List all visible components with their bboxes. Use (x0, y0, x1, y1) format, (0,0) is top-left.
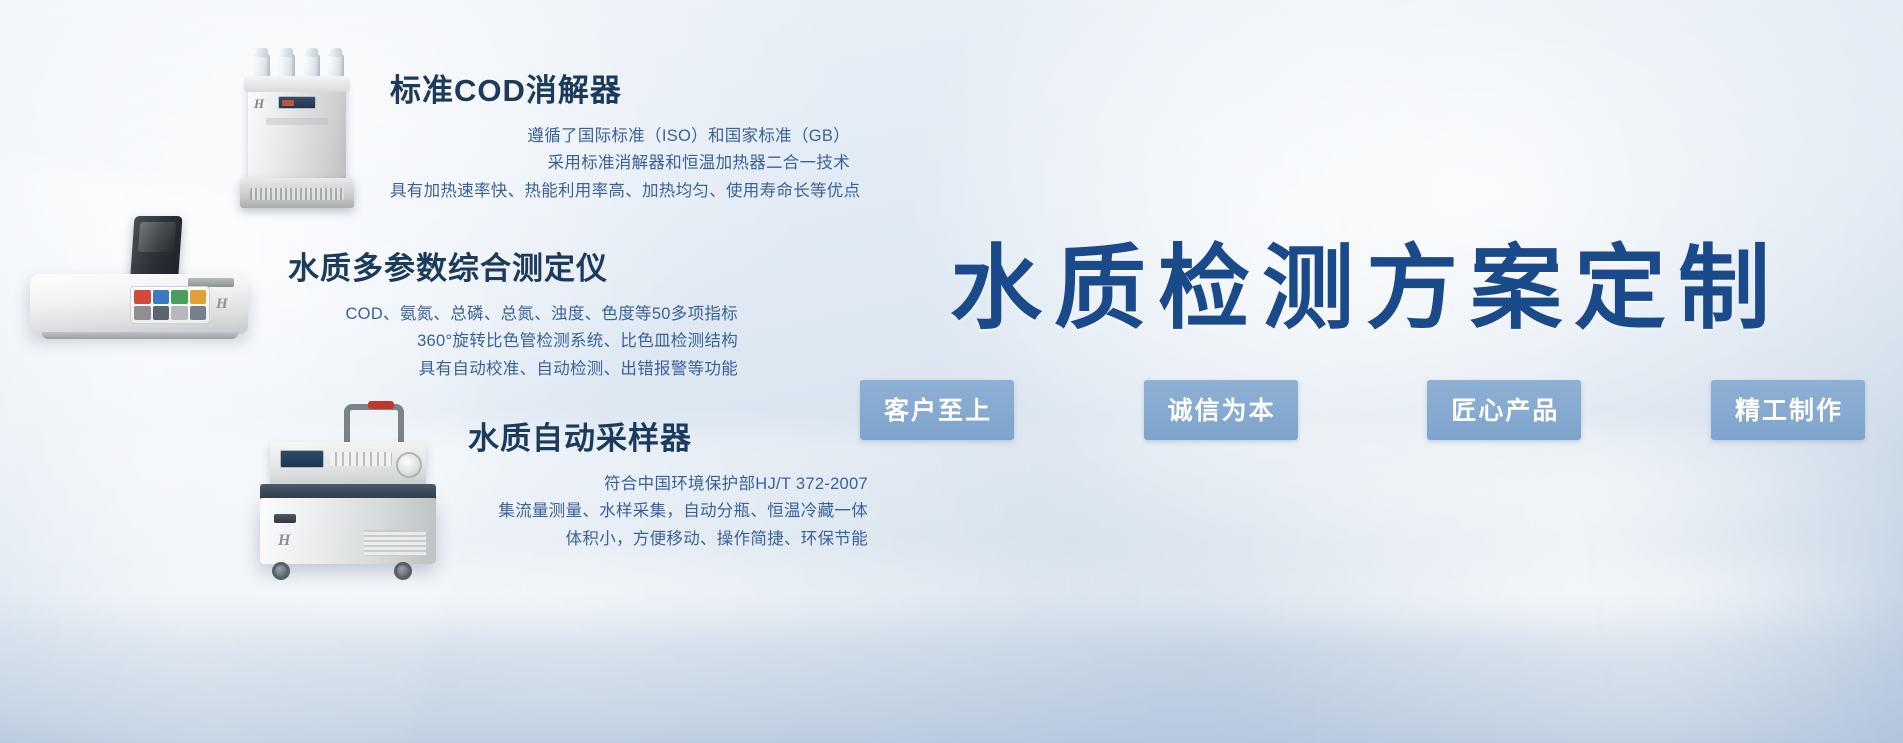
product-description-line: 具有自动校准、自动检测、出错报警等功能 (288, 356, 738, 383)
digester-vent (250, 188, 344, 200)
product-image-multi-parameter-analyzer: H (20, 216, 260, 346)
product-block-cod-digester: 标准COD消解器 遵循了国际标准（ISO）和国家标准（GB） 采用标准消解器和恒… (390, 72, 850, 205)
background-bottom-vignette (0, 593, 1903, 743)
analyzer-base (42, 332, 238, 339)
product-description-line: 符合中国环境保护部HJ/T 372-2007 (468, 471, 868, 498)
sampler-display (280, 450, 324, 468)
tag-badge-customer-first[interactable]: 客户至上 (860, 380, 1014, 440)
sampler-pump-icon (396, 452, 422, 478)
water-quality-banner: H H H 标准COD消解器 遵循了国际标准（ISO）和国家标准（GB） (0, 0, 1903, 743)
product-description-line: 360°旋转比色管检测系统、比色皿检测结构 (288, 328, 738, 355)
brand-logo-icon: H (278, 532, 290, 550)
product-description: 遵循了国际标准（ISO）和国家标准（GB） 采用标准消解器和恒温加热器二合一技术… (390, 123, 850, 205)
product-block-multi-parameter-analyzer: 水质多参数综合测定仪 COD、氨氮、总磷、总氮、浊度、色度等50多项指标 360… (288, 250, 738, 383)
sampler-caster-wheel (272, 562, 290, 580)
tag-badge-integrity[interactable]: 诚信为本 (1144, 380, 1298, 440)
product-description-line: 遵循了国际标准（ISO）和国家标准（GB） (390, 123, 850, 150)
sampler-keypad (330, 452, 392, 466)
brand-logo-icon: H (254, 96, 267, 110)
tag-badge-fine-manufacturing[interactable]: 精工制作 (1711, 380, 1865, 440)
analyzer-keypad (130, 286, 210, 324)
main-headline: 水质检测方案定制 (855, 239, 1865, 340)
product-block-automatic-sampler: 水质自动采样器 符合中国环境保护部HJ/T 372-2007 集流量测量、水样采… (468, 420, 868, 553)
tag-badge-list: 客户至上 诚信为本 匠心产品 精工制作 (860, 380, 1865, 440)
sampler-caster-wheel (394, 562, 412, 580)
digester-top-plate (244, 76, 350, 92)
tag-badge-craftsmanship[interactable]: 匠心产品 (1427, 380, 1581, 440)
product-description-line: 采用标准消解器和恒温加热器二合一技术 (390, 150, 850, 177)
background-wave-streak (0, 560, 1903, 743)
background-wave-streak (1250, 470, 1903, 743)
sampler-grill (364, 530, 426, 556)
product-image-cod-digester: H (238, 52, 356, 210)
sampler-latch (274, 514, 296, 523)
product-description-line: 具有加热速率快、热能利用率高、加热均匀、使用寿命长等优点 (390, 178, 850, 205)
product-description: COD、氨氮、总磷、总氮、浊度、色度等50多项指标 360°旋转比色管检测系统、… (288, 301, 738, 383)
product-image-automatic-sampler: H (248, 404, 448, 584)
product-description-line: 体积小，方便移动、操作简捷、环保节能 (468, 526, 868, 553)
brand-logo-icon: H (216, 296, 228, 313)
digester-display (278, 96, 316, 109)
product-description-line: 集流量测量、水样采集，自动分瓶、恒温冷藏一体 (468, 498, 868, 525)
digester-control-row (266, 118, 328, 125)
sampler-handle (344, 404, 404, 444)
product-title: 水质多参数综合测定仪 (288, 250, 738, 287)
product-title: 标准COD消解器 (390, 72, 850, 109)
product-description-line: COD、氨氮、总磷、总氮、浊度、色度等50多项指标 (288, 301, 738, 328)
product-title: 水质自动采样器 (468, 420, 868, 457)
product-description: 符合中国环境保护部HJ/T 372-2007 集流量测量、水样采集，自动分瓶、恒… (468, 471, 868, 553)
